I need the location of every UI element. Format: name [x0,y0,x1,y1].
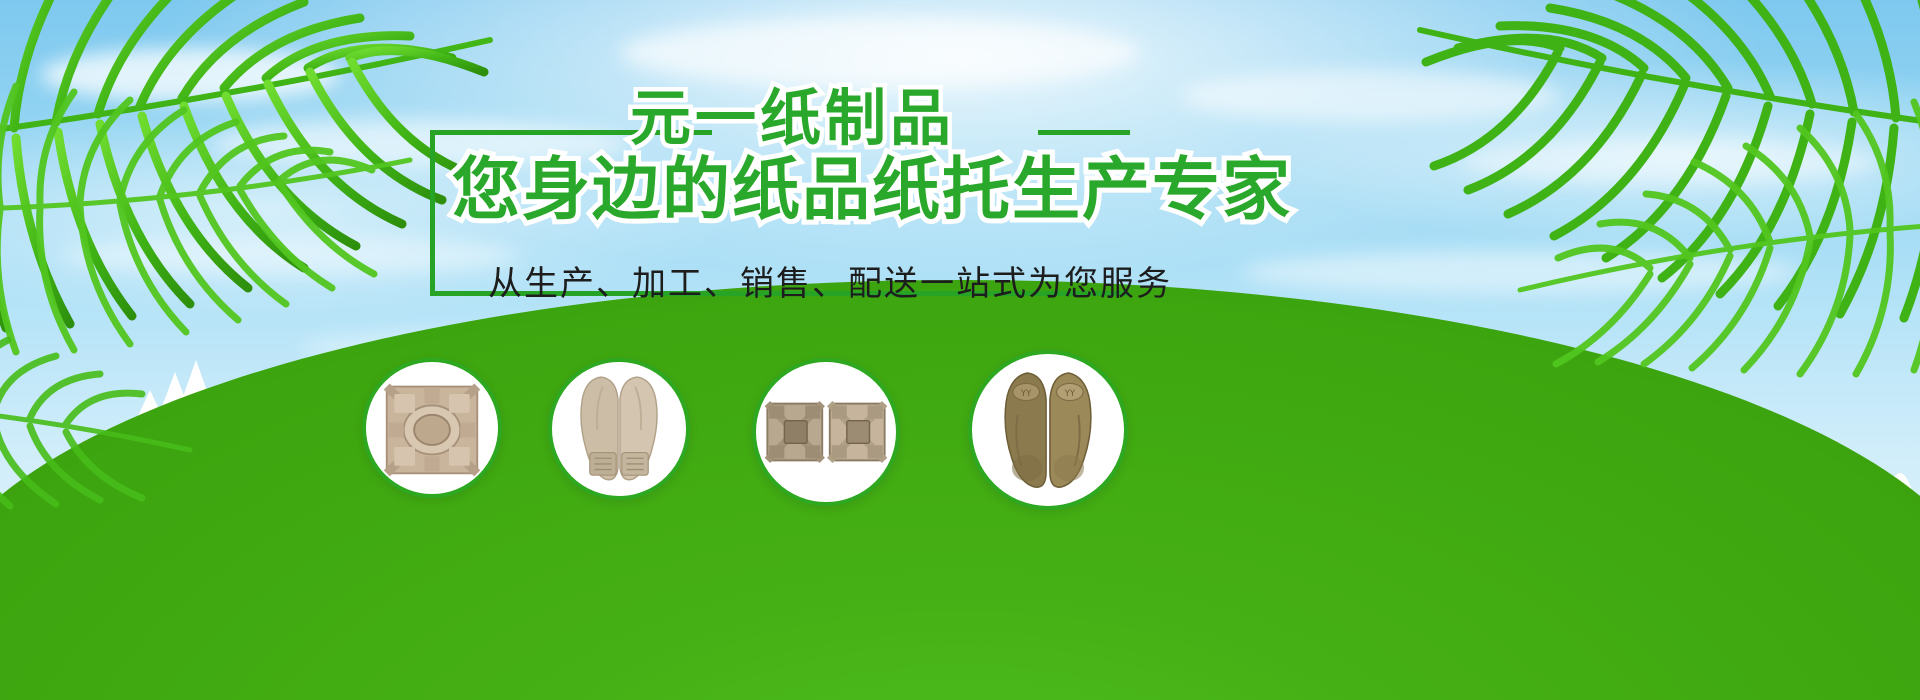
promo-banner: 元一纸制品 您身边的纸品纸托生产专家 从生产、加工、销售、配送一站式为您服务 [0,0,1920,700]
product-circle-insole-pulp-pair[interactable] [548,358,690,500]
product-gallery: YY YY [0,0,1920,700]
svg-text:YY: YY [1020,389,1032,399]
product-circle-shoe-shaper-pair[interactable]: YY YY [968,350,1128,510]
product-circle-pulp-corner-pair[interactable] [752,358,900,506]
svg-text:YY: YY [1064,389,1076,399]
product-circle-square-pulp-tray[interactable] [362,358,502,498]
